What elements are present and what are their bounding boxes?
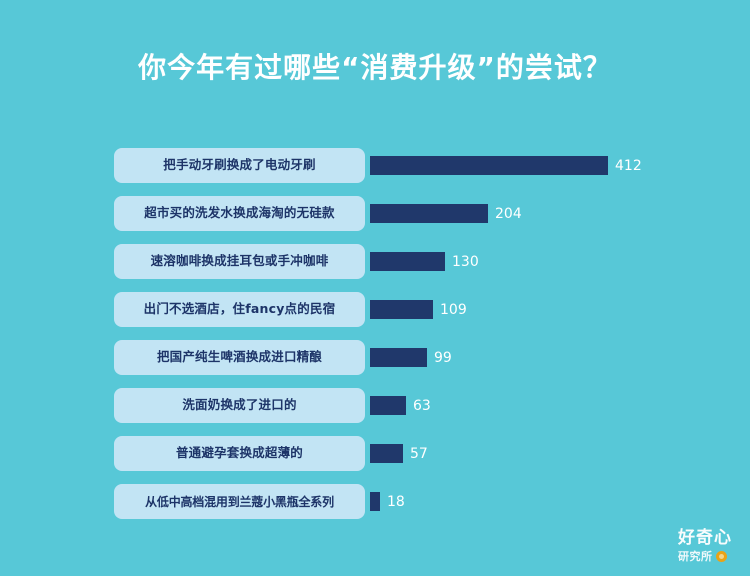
bar (370, 300, 433, 319)
bar (370, 348, 427, 367)
category-pill: 从低中高档混用到兰蔻小黑瓶全系列 (114, 484, 365, 519)
category-pill: 洗面奶换成了进口的 (114, 388, 365, 423)
category-label: 洗面奶换成了进口的 (182, 399, 296, 412)
table-row: 出门不选酒店，住fancy点的民宿 109 (114, 292, 674, 327)
brand-subtitle: 研究所 (678, 551, 713, 562)
bar-area: 57 (370, 436, 674, 471)
bar-value-label: 130 (452, 255, 479, 269)
table-row: 从低中高档混用到兰蔻小黑瓶全系列 18 (114, 484, 674, 519)
bar-value-label: 57 (410, 447, 428, 461)
category-label: 从低中高档混用到兰蔻小黑瓶全系列 (145, 496, 334, 508)
category-pill: 把手动牙刷换成了电动牙刷 (114, 148, 365, 183)
bar-area: 109 (370, 292, 674, 327)
bar-value-label: 204 (495, 207, 522, 221)
category-pill: 速溶咖啡换成挂耳包或手冲咖啡 (114, 244, 365, 279)
category-label: 出门不选酒店，住fancy点的民宿 (144, 303, 336, 316)
category-label: 普通避孕套换成超薄的 (176, 447, 303, 460)
bar (370, 444, 403, 463)
table-row: 速溶咖啡换成挂耳包或手冲咖啡 130 (114, 244, 674, 279)
category-pill: 把国产纯生啤酒换成进口精酿 (114, 340, 365, 375)
bar-area: 63 (370, 388, 674, 423)
bar-area: 99 (370, 340, 674, 375)
bar-value-label: 99 (434, 351, 452, 365)
bar-area: 204 (370, 196, 674, 231)
brand-sub-row: 研究所 (678, 551, 732, 562)
bar-value-label: 412 (615, 159, 642, 173)
category-label: 速溶咖啡换成挂耳包或手冲咖啡 (151, 255, 329, 268)
bar (370, 204, 488, 223)
orange-dot-icon (716, 551, 727, 562)
bar-area: 18 (370, 484, 674, 519)
table-row: 把国产纯生啤酒换成进口精酿 99 (114, 340, 674, 375)
bar (370, 396, 406, 415)
page-title: 你今年有过哪些“消费升级”的尝试？ (0, 48, 750, 88)
bar (370, 156, 608, 175)
infographic-poster: 你今年有过哪些“消费升级”的尝试？ 把手动牙刷换成了电动牙刷 412 超市买的洗… (0, 0, 750, 576)
category-pill: 超市买的洗发水换成海淘的无硅款 (114, 196, 365, 231)
category-pill: 普通避孕套换成超薄的 (114, 436, 365, 471)
table-row: 洗面奶换成了进口的 63 (114, 388, 674, 423)
bar (370, 252, 445, 271)
bar-area: 412 (370, 148, 674, 183)
brand-logo: 好奇心 研究所 (678, 530, 732, 562)
category-label: 超市买的洗发水换成海淘的无硅款 (144, 207, 335, 220)
table-row: 把手动牙刷换成了电动牙刷 412 (114, 148, 674, 183)
category-label: 把国产纯生啤酒换成进口精酿 (157, 351, 322, 364)
table-row: 普通避孕套换成超薄的 57 (114, 436, 674, 471)
category-label: 把手动牙刷换成了电动牙刷 (163, 159, 315, 172)
bar (370, 492, 380, 511)
bar-area: 130 (370, 244, 674, 279)
bar-value-label: 18 (387, 495, 405, 509)
table-row: 超市买的洗发水换成海淘的无硅款 204 (114, 196, 674, 231)
category-pill: 出门不选酒店，住fancy点的民宿 (114, 292, 365, 327)
bar-chart: 把手动牙刷换成了电动牙刷 412 超市买的洗发水换成海淘的无硅款 204 速溶咖… (114, 148, 674, 532)
bar-value-label: 63 (413, 399, 431, 413)
bar-value-label: 109 (440, 303, 467, 317)
brand-name: 好奇心 (678, 530, 732, 547)
